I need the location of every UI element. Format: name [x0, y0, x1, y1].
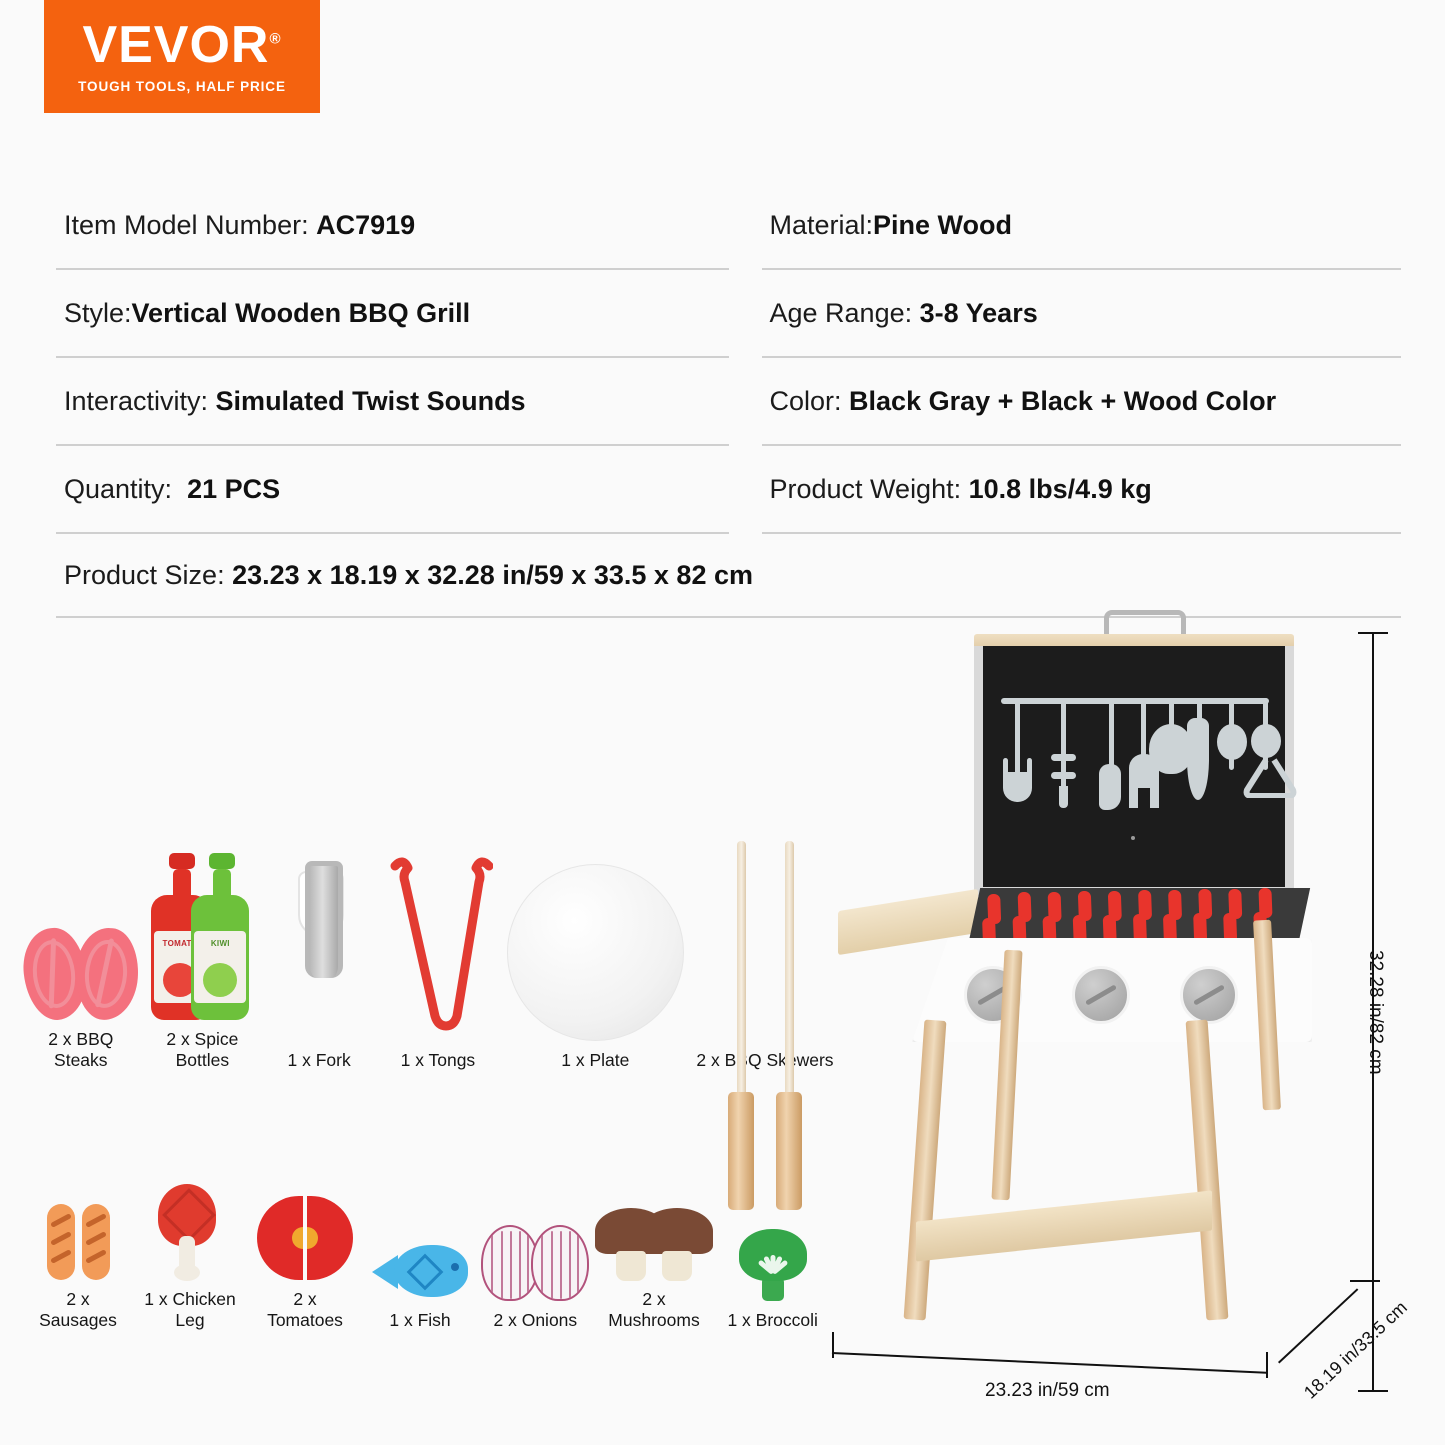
accessory-mushrooms: 2 x Mushrooms: [595, 1180, 714, 1332]
accessory-sausages: 2 x Sausages: [22, 1180, 134, 1332]
grill-leg-front-left: [904, 1020, 947, 1321]
spice-bottles-icon: TOMATO KIWI: [151, 820, 253, 1020]
spec-label: Product Weight:: [770, 474, 969, 505]
hanging-skewer-tip: [1059, 786, 1068, 808]
dimension-height-label: 32.28 in/82 cm: [1364, 950, 1386, 1075]
specification-table: Item Model Number: AC7919 Style: Vertica…: [56, 182, 1401, 618]
hanging-spoon-icon: [1217, 724, 1247, 760]
accessory-label: 1 x Fish: [361, 1310, 479, 1331]
spec-column-right: Material: Pine Wood Age Range: 3-8 Years…: [729, 182, 1402, 534]
plate-icon: [507, 841, 684, 1041]
tongs-shape: [383, 856, 493, 1041]
chicken-leg-icon: [158, 1180, 222, 1280]
registered-trademark-icon: ®: [270, 31, 282, 48]
accessory-row-food: 2 x Sausages 1 x Chicken Leg 2 x Tomatoe…: [22, 1180, 832, 1332]
hanging-carving-fork-prong-left: [1129, 786, 1138, 808]
accessory-label: 1 x Broccoli: [714, 1310, 832, 1331]
grill-lid-panel: [974, 646, 1294, 896]
fish-icon: [372, 1201, 468, 1301]
burner-knob-3[interactable]: [1180, 966, 1238, 1024]
onions-icon: [481, 1201, 589, 1301]
spec-row-age-range: Age Range: 3-8 Years: [762, 270, 1402, 358]
bottle-label-green: KIWI: [194, 939, 246, 948]
accessory-label: 1 x Chicken Leg: [131, 1289, 249, 1332]
bbq-skewers-icon: [728, 841, 802, 1041]
accessory-broccoli: 1 x Broccoli: [713, 1201, 832, 1331]
spec-row-item-model-number: Item Model Number: AC7919: [56, 182, 729, 270]
accessory-fish: 1 x Fish: [364, 1201, 476, 1331]
spec-label: Color:: [770, 386, 850, 417]
spec-label: Item Model Number:: [64, 210, 316, 241]
mushrooms-icon: [595, 1180, 713, 1280]
accessory-label: 1 x Tongs: [379, 1050, 497, 1071]
spec-value: Pine Wood: [873, 210, 1012, 241]
spec-value: Black Gray + Black + Wood Color: [849, 386, 1276, 417]
hanging-knife-icon: [1187, 718, 1209, 800]
brand-wordmark: VEVOR®: [82, 19, 281, 71]
spec-value: 10.8 lbs/4.9 kg: [969, 474, 1152, 505]
accessory-spice-bottles: TOMATO KIWI 2 x Spice Bottles: [142, 820, 264, 1072]
accessory-fork: 1 x Fork: [263, 841, 375, 1071]
spec-row-style: Style: Vertical Wooden BBQ Grill: [56, 270, 729, 358]
accessory-label: 2 x Onions: [476, 1310, 594, 1331]
spec-label: Age Range:: [770, 298, 920, 329]
hanging-spatula-icon: [1099, 764, 1121, 810]
spec-row-material: Material: Pine Wood: [762, 182, 1402, 270]
spec-value: 23.23 x 18.19 x 32.28 in/59 x 33.5 x 82 …: [232, 560, 753, 591]
accessory-bbq-steaks: 2 x BBQ Steaks: [20, 820, 142, 1072]
accessory-chicken-leg: 1 x Chicken Leg: [134, 1180, 246, 1332]
fork-icon: [292, 841, 346, 1041]
grill-leg-front-right: [1186, 1020, 1229, 1321]
bbq-steaks-icon: [24, 820, 138, 1020]
spec-row-product-size: Product Size: 23.23 x 18.19 x 32.28 in/5…: [56, 534, 1401, 618]
brand-name: VEVOR: [82, 16, 269, 74]
spec-label: Quantity:: [64, 474, 187, 505]
spec-row-product-weight: Product Weight: 10.8 lbs/4.9 kg: [762, 446, 1402, 534]
accessory-tongs: 1 x Tongs: [375, 841, 501, 1071]
hanging-fork-icon: [1003, 772, 1032, 802]
accessory-row-utensils: 2 x BBQ Steaks TOMATO KIWI: [20, 820, 840, 1072]
dimension-width-label: 23.23 in/59 cm: [985, 1380, 1110, 1402]
spec-label: Interactivity:: [64, 386, 216, 417]
bottom-storage-shelf: [916, 1190, 1212, 1261]
tomatoes-icon: [257, 1180, 353, 1280]
hanging-tongs-icon: [1241, 758, 1299, 798]
accessory-label: 2 x BBQ Skewers: [685, 1050, 845, 1071]
hanging-skewer-bead: [1051, 772, 1076, 779]
accessory-label: 2 x Tomatoes: [246, 1289, 364, 1332]
accessory-label: 1 x Fork: [260, 1050, 378, 1071]
product-image-bbq-grill: [828, 620, 1348, 1380]
accessory-onions: 2 x Onions: [476, 1201, 595, 1331]
spec-column-left: Item Model Number: AC7919 Style: Vertica…: [56, 182, 729, 534]
accessory-label: 2 x Mushrooms: [595, 1289, 713, 1332]
hanging-fork-tine-right: [1027, 758, 1032, 776]
accessory-label: 2 x Spice Bottles: [143, 1029, 261, 1072]
lid-screw: [1131, 836, 1135, 840]
hanging-fork-tine-left: [1003, 758, 1008, 776]
spec-row-interactivity: Interactivity: Simulated Twist Sounds: [56, 358, 729, 446]
hanging-basting-brush-icon: [1251, 724, 1281, 758]
vevor-logo: VEVOR® TOUGH TOOLS, HALF PRICE: [44, 0, 320, 113]
spec-value: Vertical Wooden BBQ Grill: [132, 298, 471, 329]
burner-knob-2[interactable]: [1072, 966, 1130, 1024]
accessory-label: 2 x Sausages: [19, 1289, 137, 1332]
spec-row-color: Color: Black Gray + Black + Wood Color: [762, 358, 1402, 446]
brand-tagline: TOUGH TOOLS, HALF PRICE: [78, 79, 286, 94]
spec-columns: Item Model Number: AC7919 Style: Vertica…: [56, 182, 1401, 534]
sausages-icon: [47, 1180, 110, 1280]
tongs-icon: [383, 841, 493, 1041]
spec-label: Material:: [770, 210, 874, 241]
hanging-carving-fork-prong-right: [1150, 786, 1159, 808]
spec-label: Product Size:: [64, 560, 232, 591]
accessory-bbq-skewers: 2 x BBQ Skewers: [690, 1023, 840, 1071]
broccoli-icon: [739, 1201, 807, 1301]
spec-value: AC7919: [316, 210, 415, 241]
spec-value: 3-8 Years: [920, 298, 1038, 329]
control-panel: [912, 938, 1312, 1042]
spec-value: Simulated Twist Sounds: [216, 386, 526, 417]
hanging-skewer-icon: [1051, 754, 1076, 761]
spec-row-quantity: Quantity: 21 PCS: [56, 446, 729, 534]
accessory-label: 1 x Plate: [536, 1050, 654, 1071]
spec-value: 21 PCS: [187, 474, 280, 505]
accessory-plate: 1 x Plate: [501, 841, 690, 1071]
accessory-label: 2 x BBQ Steaks: [22, 1029, 140, 1072]
accessory-tomatoes: 2 x Tomatoes: [246, 1180, 364, 1332]
spec-label: Style:: [64, 298, 132, 329]
hook-1: [1015, 698, 1020, 778]
